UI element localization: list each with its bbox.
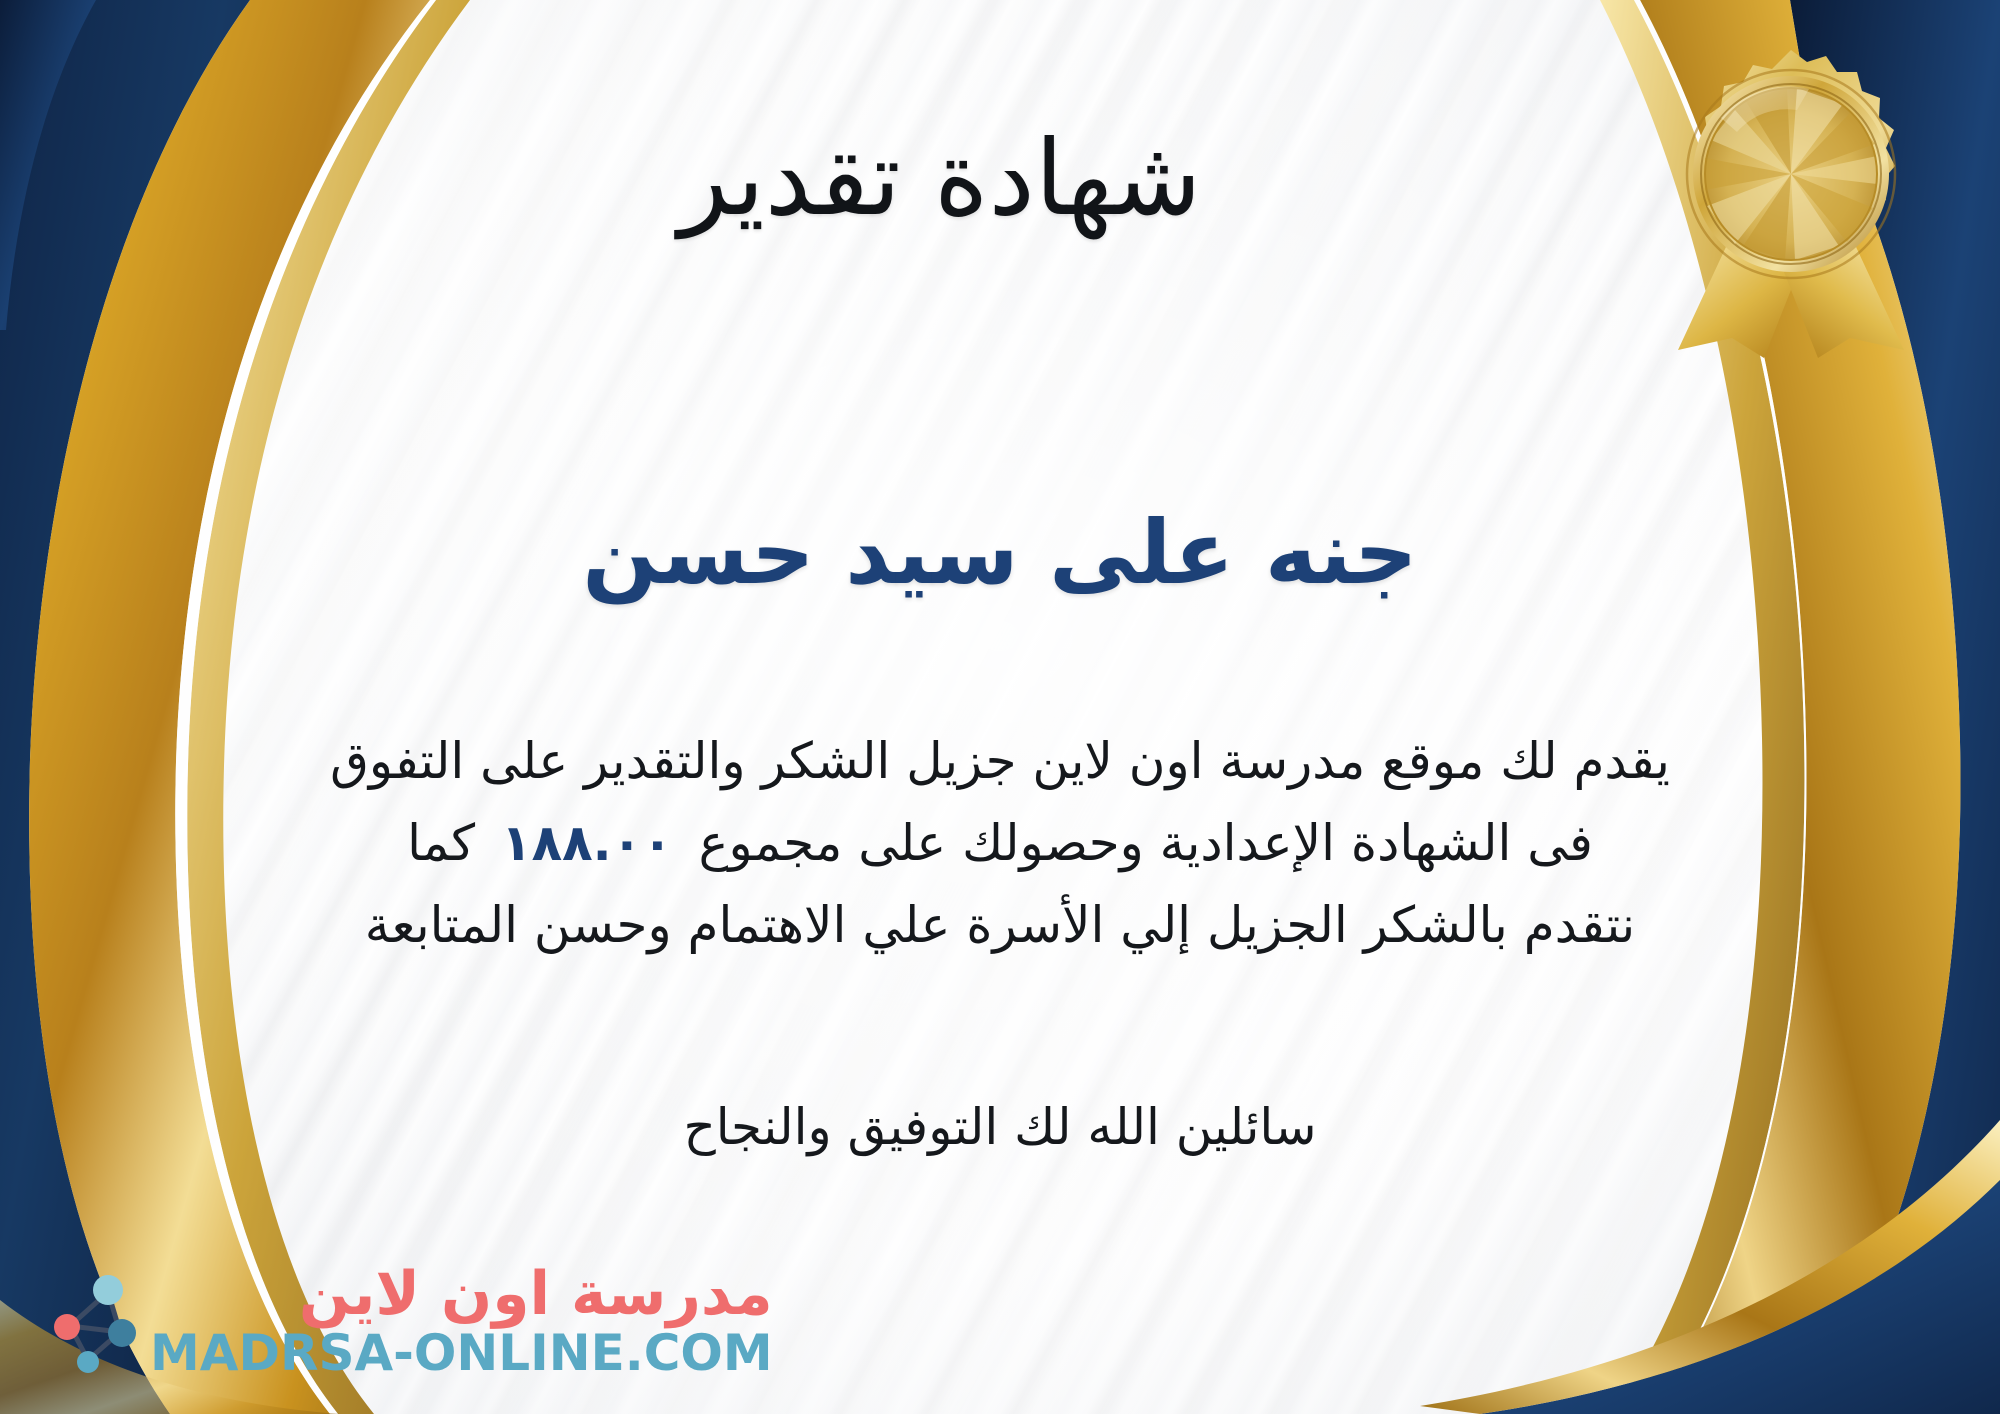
brand-name-arabic: مدرسة اون لاين <box>299 1263 773 1327</box>
brand-website: MADRSA-ONLINE.COM <box>150 1327 773 1380</box>
body-line-1: يقدم لك موقع مدرسة اون لاين جزيل الشكر و… <box>60 720 1940 802</box>
network-nodes-icon <box>36 1270 140 1374</box>
page-title: شهادة تقدير <box>0 124 2000 233</box>
recipient-name: جنه على سيد حسن <box>0 505 2000 600</box>
certificate-content: شهادة تقدير جنه على سيد حسن يقدم لك موقع… <box>0 0 2000 1414</box>
body-line-3: نتقدم بالشكر الجزيل إلي الأسرة علي الاهت… <box>60 884 1940 966</box>
closing-line: سائلين الله لك التوفيق والنجاح <box>0 1090 2000 1165</box>
brand-logo[interactable]: مدرسة اون لاين MADRSA-ONLINE.COM <box>36 1263 773 1380</box>
score-value: ١٨٨.٠٠ <box>475 814 699 872</box>
certificate-page: شهادة تقدير جنه على سيد حسن يقدم لك موقع… <box>0 0 2000 1414</box>
brand-text: مدرسة اون لاين MADRSA-ONLINE.COM <box>150 1263 773 1380</box>
body-line-2: فى الشهادة الإعدادية وحصولك على مجموع١٨٨… <box>60 802 1940 884</box>
body-line-2-suffix: كما <box>407 814 475 872</box>
body-line-2-prefix: فى الشهادة الإعدادية وحصولك على مجموع <box>699 814 1593 872</box>
body-text: يقدم لك موقع مدرسة اون لاين جزيل الشكر و… <box>60 720 1940 966</box>
